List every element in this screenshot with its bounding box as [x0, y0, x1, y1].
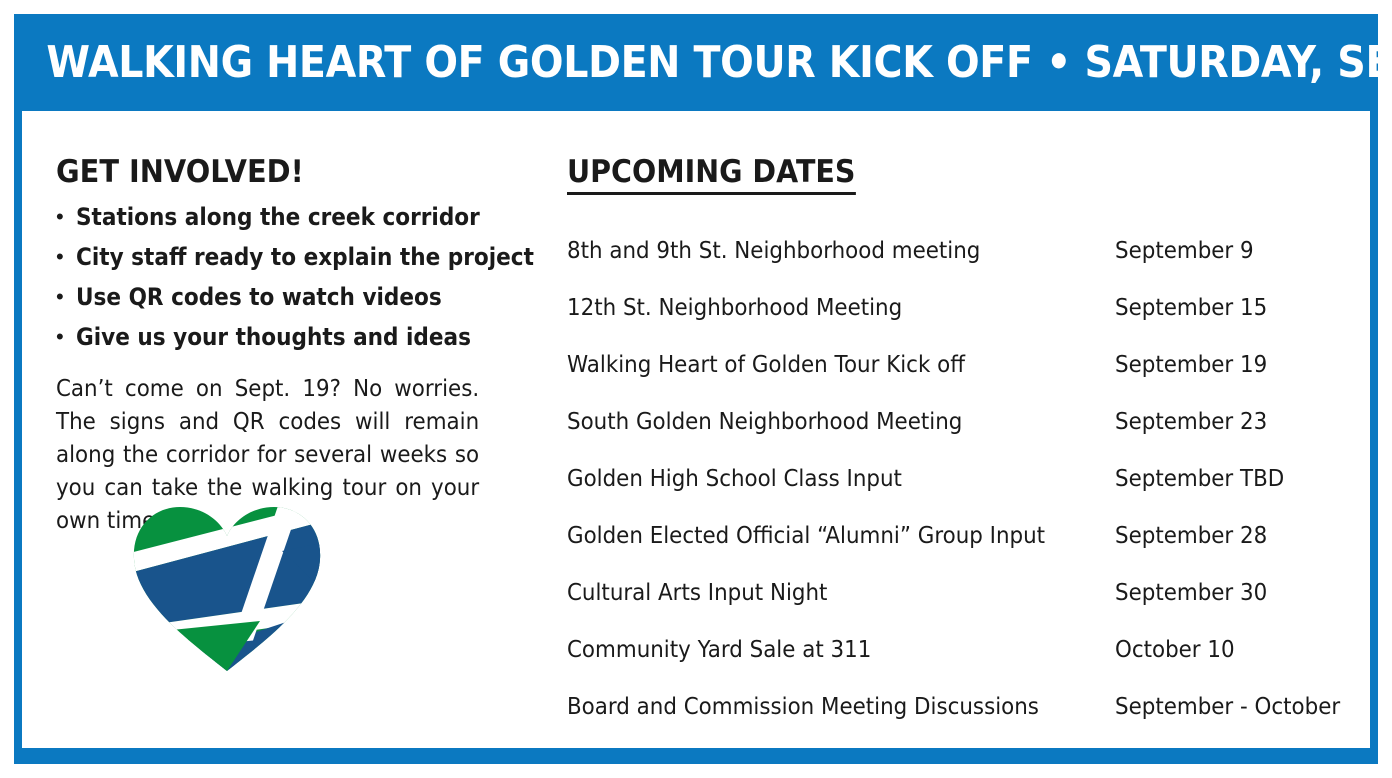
event-date-cell: September 28 [1115, 508, 1357, 565]
bullet-icon: • [56, 243, 76, 271]
list-item: • Stations along the creek corridor [56, 203, 536, 231]
get-involved-section: GET INVOLVED! • Stations along the creek… [56, 155, 536, 538]
list-item-label: Give us your thoughts and ideas [76, 323, 471, 351]
bullet-icon: • [56, 283, 76, 311]
event-date-cell: September 15 [1115, 280, 1357, 337]
bullet-icon: • [56, 323, 76, 351]
page-title: WALKING HEART OF GOLDEN TOUR KICK OFF • … [14, 41, 1392, 85]
table-row: 8th and 9th St. Neighborhood meeting Sep… [567, 223, 1357, 280]
event-name-cell: 12th St. Neighborhood Meeting [567, 280, 1115, 337]
table-row: Golden Elected Official “Alumni” Group I… [567, 508, 1357, 565]
event-date-cell: October 10 [1115, 622, 1357, 679]
two-column-layout: GET INVOLVED! • Stations along the creek… [22, 111, 1370, 748]
bullet-icon: • [56, 203, 76, 231]
event-date-cell: September TBD [1115, 451, 1357, 508]
get-involved-list: • Stations along the creek corridor • Ci… [56, 203, 536, 351]
upcoming-dates-heading: UPCOMING DATES [567, 155, 855, 195]
table-row: Community Yard Sale at 311 October 10 [567, 622, 1357, 679]
event-name-cell: Community Yard Sale at 311 [567, 622, 1115, 679]
list-item: • Use QR codes to watch videos [56, 283, 536, 311]
header-banner: WALKING HEART OF GOLDEN TOUR KICK OFF • … [14, 14, 1378, 111]
event-date-cell: September 9 [1115, 223, 1357, 280]
heart-of-golden-logo-icon [132, 503, 322, 671]
event-name-cell: 8th and 9th St. Neighborhood meeting [567, 223, 1115, 280]
list-item-label: Use QR codes to watch videos [76, 283, 442, 311]
table-row: Cultural Arts Input Night September 30 [567, 565, 1357, 622]
event-name-cell: Golden Elected Official “Alumni” Group I… [567, 508, 1115, 565]
table-row: Board and Commission Meeting Discussions… [567, 679, 1357, 736]
event-date-cell: September 30 [1115, 565, 1357, 622]
upcoming-dates-section: UPCOMING DATES 8th and 9th St. Neighborh… [567, 155, 1357, 736]
table-row: Walking Heart of Golden Tour Kick off Se… [567, 337, 1357, 394]
event-name-cell: Walking Heart of Golden Tour Kick off [567, 337, 1115, 394]
list-item-label: Stations along the creek corridor [76, 203, 480, 231]
content-panel: GET INVOLVED! • Stations along the creek… [22, 111, 1370, 748]
table-row: South Golden Neighborhood Meeting Septem… [567, 394, 1357, 451]
event-date-cell: September 23 [1115, 394, 1357, 451]
event-name-cell: Cultural Arts Input Night [567, 565, 1115, 622]
upcoming-dates-table: 8th and 9th St. Neighborhood meeting Sep… [567, 223, 1357, 736]
get-involved-heading: GET INVOLVED! [56, 155, 502, 189]
flyer-frame: WALKING HEART OF GOLDEN TOUR KICK OFF • … [14, 14, 1378, 764]
event-name-cell: South Golden Neighborhood Meeting [567, 394, 1115, 451]
event-date-cell: September - October [1115, 679, 1357, 736]
list-item: • City staff ready to explain the projec… [56, 243, 536, 271]
event-name-cell: Golden High School Class Input [567, 451, 1115, 508]
list-item: • Give us your thoughts and ideas [56, 323, 536, 351]
event-date-cell: September 19 [1115, 337, 1357, 394]
table-row: 12th St. Neighborhood Meeting September … [567, 280, 1357, 337]
table-row: Golden High School Class Input September… [567, 451, 1357, 508]
event-name-cell: Board and Commission Meeting Discussions [567, 679, 1115, 736]
list-item-label: City staff ready to explain the project [76, 243, 534, 271]
